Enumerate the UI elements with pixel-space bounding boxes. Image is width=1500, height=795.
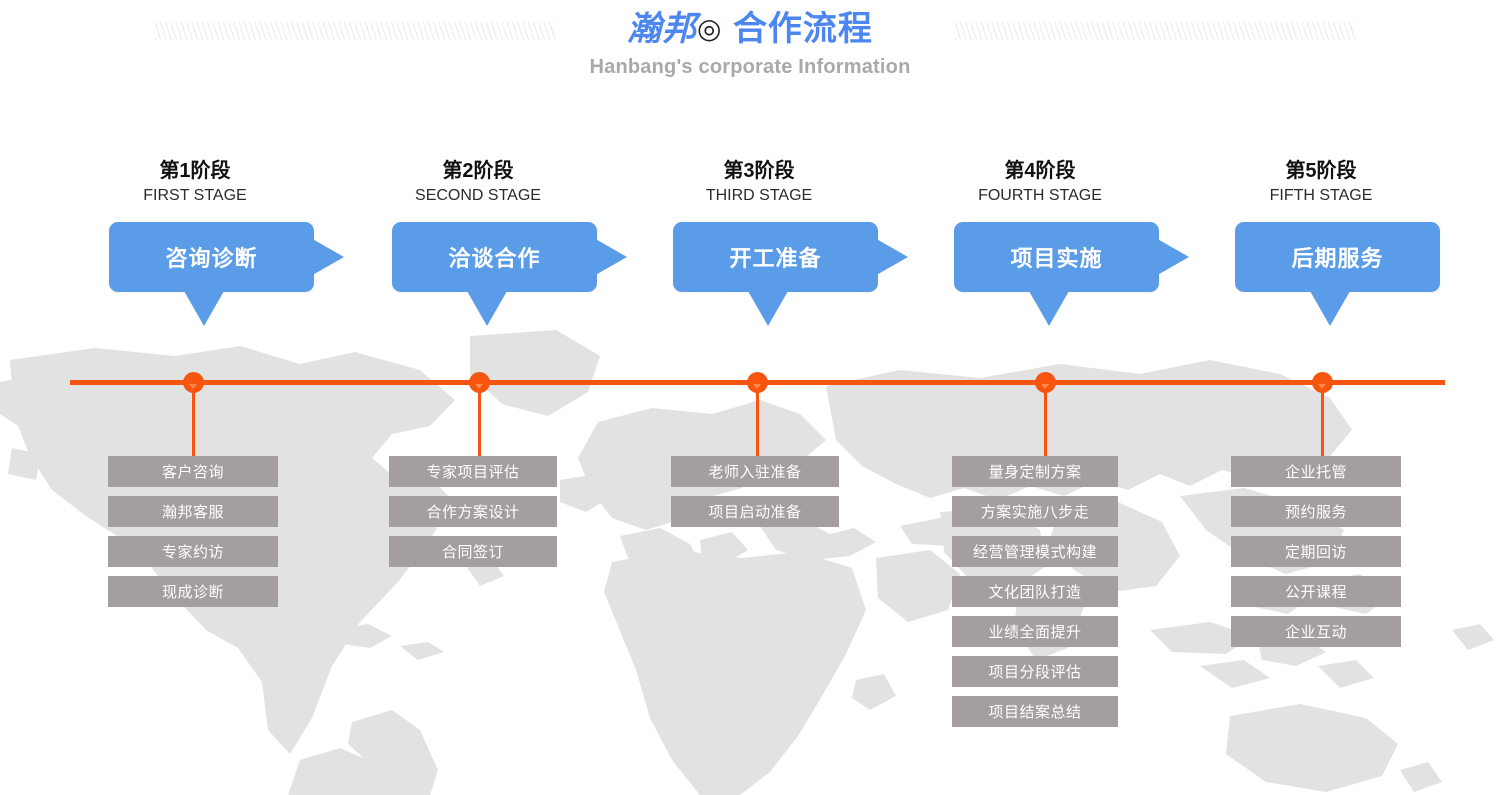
banner-arrow-icon-3 (873, 237, 908, 277)
stage-banner-1[interactable]: 咨询诊断 (109, 222, 314, 292)
banner-tail-icon-1 (184, 291, 224, 326)
page-title: 瀚邦◎ 合作流程 (0, 8, 1500, 50)
item-box[interactable]: 合同签订 (389, 536, 557, 567)
stage-banner-wrap-2: 洽谈合作 (348, 222, 608, 327)
stage-banner-4[interactable]: 项目实施 (954, 222, 1159, 292)
item-box[interactable]: 合作方案设计 (389, 496, 557, 527)
stage-subtitle-3: THIRD STAGE (629, 185, 889, 207)
banner-tail-icon-3 (748, 291, 788, 326)
stage-banner-3[interactable]: 开工准备 (673, 222, 878, 292)
timeline-dot-3[interactable] (747, 372, 768, 393)
item-box[interactable]: 客户咨询 (108, 456, 278, 487)
timeline-drop-4 (1044, 382, 1047, 456)
timeline-dot-2[interactable] (469, 372, 490, 393)
item-box[interactable]: 项目启动准备 (671, 496, 839, 527)
stage-title-5: 第5阶段 (1191, 158, 1451, 184)
logo-mark-icon: ◎ (697, 13, 722, 44)
stage-banner-label-3: 开工准备 (729, 241, 821, 273)
item-box[interactable]: 企业互动 (1231, 616, 1401, 647)
item-box[interactable]: 定期回访 (1231, 536, 1401, 567)
item-box[interactable]: 方案实施八步走 (952, 496, 1118, 527)
stage-banner-wrap-3: 开工准备 (629, 222, 889, 327)
infographic-page: 瀚邦◎ 合作流程 Hanbang's corporate Information… (0, 0, 1500, 795)
banner-tail-icon-5 (1310, 291, 1350, 326)
brand-name: 瀚邦 (627, 10, 697, 48)
stage-banner-label-1: 咨询诊断 (165, 241, 257, 273)
stage-column-1: 第1阶段 FIRST STAGE 咨询诊断 (65, 158, 325, 327)
item-box[interactable]: 公开课程 (1231, 576, 1401, 607)
timeline-dot-5[interactable] (1312, 372, 1333, 393)
stage-banner-label-5: 后期服务 (1291, 241, 1383, 273)
item-box[interactable]: 现成诊断 (108, 576, 278, 607)
item-box[interactable]: 文化团队打造 (952, 576, 1118, 607)
stage-banner-5[interactable]: 后期服务 (1235, 222, 1440, 292)
item-box[interactable]: 业绩全面提升 (952, 616, 1118, 647)
item-box[interactable]: 瀚邦客服 (108, 496, 278, 527)
stage-banner-2[interactable]: 洽谈合作 (392, 222, 597, 292)
header: 瀚邦◎ 合作流程 Hanbang's corporate Information (0, 0, 1500, 105)
stage-items-4: 量身定制方案 方案实施八步走 经营管理模式构建 文化团队打造 业绩全面提升 项目… (952, 456, 1118, 736)
stage-items-3: 老师入驻准备 项目启动准备 (671, 456, 839, 536)
stage-title-3: 第3阶段 (629, 158, 889, 184)
item-box[interactable]: 专家项目评估 (389, 456, 557, 487)
timeline-dot-1[interactable] (183, 372, 204, 393)
stage-column-5: 第5阶段 FIFTH STAGE 后期服务 (1191, 158, 1451, 327)
stage-banner-wrap-1: 咨询诊断 (65, 222, 325, 327)
timeline-drop-3 (756, 382, 759, 456)
stage-subtitle-5: FIFTH STAGE (1191, 185, 1451, 207)
item-box[interactable]: 项目分段评估 (952, 656, 1118, 687)
stage-banner-label-4: 项目实施 (1010, 241, 1102, 273)
stage-banner-label-2: 洽谈合作 (448, 241, 540, 273)
item-box[interactable]: 专家约访 (108, 536, 278, 567)
item-box[interactable]: 预约服务 (1231, 496, 1401, 527)
stage-items-5: 企业托管 预约服务 定期回访 公开课程 企业互动 (1231, 456, 1401, 656)
stage-banner-wrap-5: 后期服务 (1191, 222, 1451, 327)
page-subtitle: Hanbang's corporate Information (0, 56, 1500, 79)
item-box[interactable]: 老师入驻准备 (671, 456, 839, 487)
stage-column-3: 第3阶段 THIRD STAGE 开工准备 (629, 158, 889, 327)
timeline-drop-1 (192, 382, 195, 456)
stage-items-2: 专家项目评估 合作方案设计 合同签订 (389, 456, 557, 576)
timeline-drop-5 (1321, 382, 1324, 456)
item-box[interactable]: 量身定制方案 (952, 456, 1118, 487)
timeline-dot-4[interactable] (1035, 372, 1056, 393)
banner-tail-icon-4 (1029, 291, 1069, 326)
stage-title-4: 第4阶段 (910, 158, 1170, 184)
item-box[interactable]: 企业托管 (1231, 456, 1401, 487)
stage-items-1: 客户咨询 瀚邦客服 专家约访 现成诊断 (108, 456, 278, 616)
stage-title-2: 第2阶段 (348, 158, 608, 184)
stage-banner-wrap-4: 项目实施 (910, 222, 1170, 327)
stage-column-2: 第2阶段 SECOND STAGE 洽谈合作 (348, 158, 608, 327)
item-box[interactable]: 项目结案总结 (952, 696, 1118, 727)
banner-arrow-icon-1 (309, 237, 344, 277)
stage-title-1: 第1阶段 (65, 158, 325, 184)
item-box[interactable]: 经营管理模式构建 (952, 536, 1118, 567)
banner-arrow-icon-4 (1154, 237, 1189, 277)
banner-tail-icon-2 (467, 291, 507, 326)
stage-column-4: 第4阶段 FOURTH STAGE 项目实施 (910, 158, 1170, 327)
timeline-drop-2 (478, 382, 481, 456)
title-block: 瀚邦◎ 合作流程 Hanbang's corporate Information (0, 8, 1500, 79)
banner-arrow-icon-2 (592, 237, 627, 277)
stage-subtitle-4: FOURTH STAGE (910, 185, 1170, 207)
stage-subtitle-1: FIRST STAGE (65, 185, 325, 207)
page-title-rest: 合作流程 (733, 10, 873, 48)
stage-subtitle-2: SECOND STAGE (348, 185, 608, 207)
